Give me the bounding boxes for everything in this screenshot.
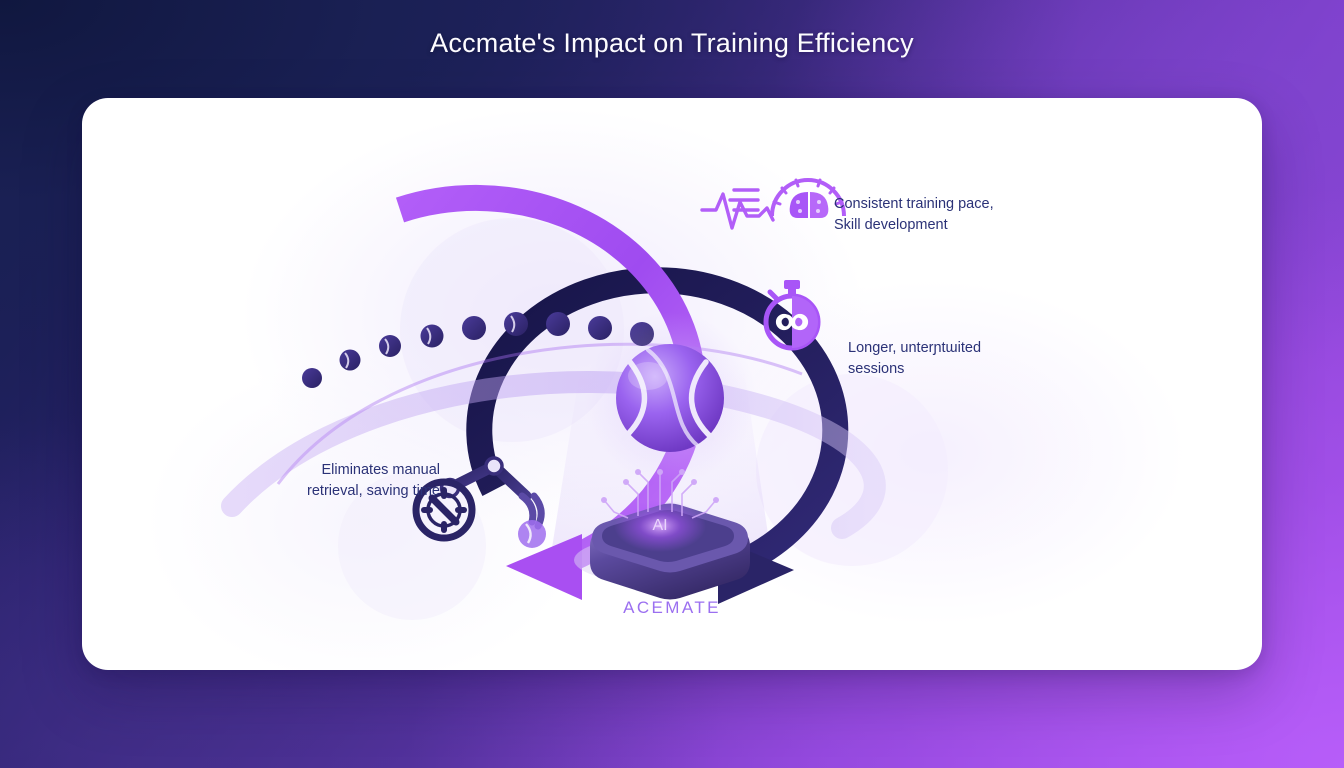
tennis-ball-center [584,312,756,484]
brand-label: ACEMATE [82,598,1262,618]
content-card: AI [82,98,1262,670]
page-title: Accmate's Impact on Training Efficiency [0,28,1344,59]
annotation-longer-sessions: Longer, unterɲtɯited sessions [848,338,1038,379]
svg-text:AI: AI [652,517,667,534]
annotation-consistent-pace: Consistent training pace, Skill developm… [834,194,1044,235]
brain-gauge-icon [702,180,844,228]
illustration-stage: AI [82,98,1262,670]
annotation-eliminates-manual: Eliminates manual retrieval, saving time [250,460,440,501]
